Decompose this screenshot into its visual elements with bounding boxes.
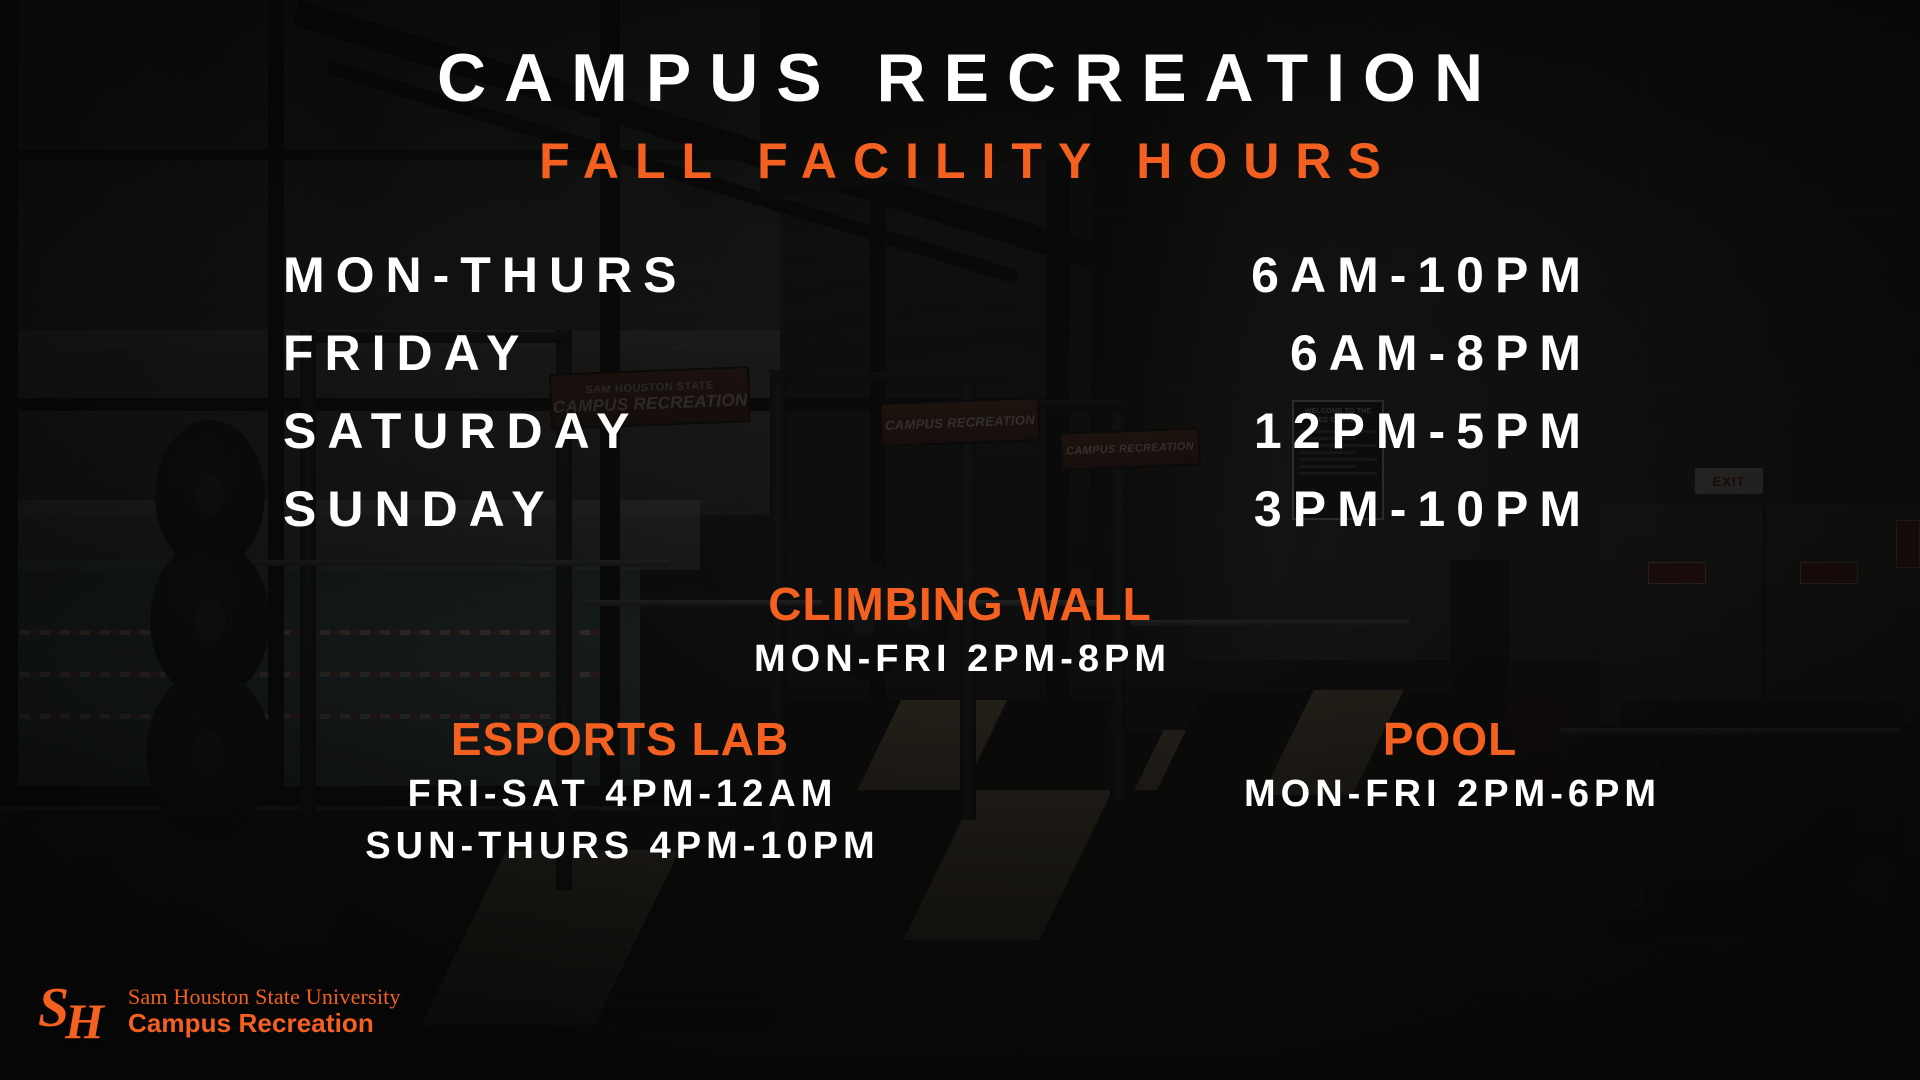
- hours-time-value: 3PM-10PM: [1254, 484, 1592, 534]
- hours-time-value: 12PM-5PM: [1254, 406, 1592, 456]
- section-pool: POOL MON-FRI 2PM-6PM: [960, 715, 1920, 821]
- hours-row: FRIDAY 6AM-8PM: [272, 328, 1592, 406]
- hours-time-value: 6AM-10PM: [1251, 250, 1592, 300]
- hours-time-value: 6AM-8PM: [1290, 328, 1592, 378]
- section-title-pool: POOL: [960, 715, 1920, 763]
- monogram-h-letter: H: [65, 996, 104, 1046]
- page-title: CAMPUS RECREATION: [0, 44, 1920, 112]
- section-hours-climbing-wall: MON-FRI 2PM-8PM: [0, 634, 1920, 685]
- logo-wordmark: Sam Houston State University Campus Recr…: [128, 985, 401, 1040]
- sh-monogram-icon: S H: [38, 982, 112, 1042]
- hours-day-label: SUNDAY: [272, 484, 556, 534]
- facility-hours-poster: EXIT WELCOME TO THE REC CENTER!: [0, 0, 1920, 1080]
- poster-content: CAMPUS RECREATION FALL FACILITY HOURS MO…: [0, 0, 1920, 1080]
- hours-day-label: FRIDAY: [272, 328, 531, 378]
- facility-hours-table: MON-THURS 6AM-10PM FRIDAY 6AM-8PM SATURD…: [272, 250, 1592, 562]
- hours-row: MON-THURS 6AM-10PM: [272, 250, 1592, 328]
- hours-row: SUNDAY 3PM-10PM: [272, 484, 1592, 562]
- logo-university-name: Sam Houston State University: [128, 985, 401, 1010]
- section-hours-pool: MON-FRI 2PM-6PM: [960, 769, 1920, 820]
- hours-day-label: SATURDAY: [272, 406, 640, 456]
- logo-department-name: Campus Recreation: [128, 1009, 401, 1039]
- sam-houston-campus-recreation-logo: S H Sam Houston State University Campus …: [38, 982, 401, 1042]
- section-climbing-wall: CLIMBING WALL MON-FRI 2PM-8PM: [0, 580, 1920, 686]
- section-title-climbing-wall: CLIMBING WALL: [0, 580, 1920, 628]
- page-subtitle: FALL FACILITY HOURS: [0, 136, 1920, 186]
- section-hours-esports-lab: SUN-THURS 4PM-10PM: [130, 821, 1110, 872]
- hours-day-label: MON-THURS: [272, 250, 688, 300]
- hours-row: SATURDAY 12PM-5PM: [272, 406, 1592, 484]
